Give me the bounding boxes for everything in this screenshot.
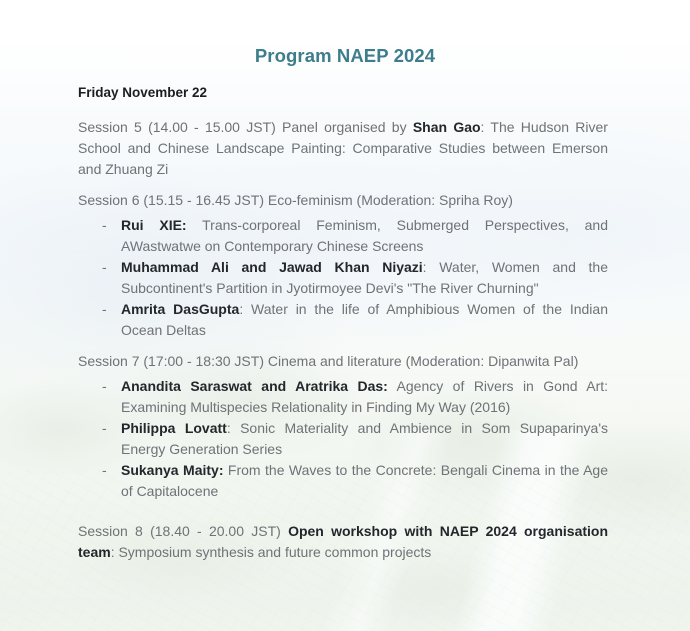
program-page: Program NAEP 2024 Friday November 22 Ses… (0, 0, 690, 631)
session-8-rest: : Symposium synthesis and future common … (111, 544, 432, 560)
talk-list-session-6: -Rui XIE: Trans-corporeal Feminism, Subm… (78, 215, 608, 341)
page-title: Program NAEP 2024 (0, 45, 690, 67)
day-heading: Friday November 22 (78, 83, 608, 103)
program-body: Friday November 22 Session 5 (14.00 - 15… (78, 83, 608, 573)
bullet-dash-icon: - (102, 299, 107, 320)
session-7-lead: Session 7 (17:00 - 18:30 JST) Cinema and… (78, 353, 578, 369)
talk-list-session-7: -Anandita Saraswat and Aratrika Das: Age… (78, 376, 608, 502)
bullet-dash-icon: - (102, 257, 107, 278)
list-item: -Anandita Saraswat and Aratrika Das: Age… (78, 376, 608, 418)
session-paragraph-5: Session 5 (14.00 - 15.00 JST) Panel orga… (78, 117, 608, 180)
talk-speaker: Anandita Saraswat and Aratrika Das: (121, 378, 388, 394)
list-item: -Sukanya Maity: From the Waves to the Co… (78, 460, 608, 502)
bullet-dash-icon: - (102, 376, 107, 397)
session-5-organiser: Shan Gao (413, 119, 481, 135)
document-content: Program NAEP 2024 Friday November 22 Ses… (0, 0, 690, 631)
bullet-dash-icon: - (102, 418, 107, 439)
section-spacer (78, 512, 608, 521)
list-item: -Philippa Lovatt: Sonic Materiality and … (78, 418, 608, 460)
bullet-dash-icon: - (102, 460, 107, 481)
talk-speaker: Rui XIE: (121, 217, 187, 233)
talk-speaker: Philippa Lovatt (121, 420, 227, 436)
list-item: -Muhammad Ali and Jawad Khan Niyazi: Wat… (78, 257, 608, 299)
talk-speaker: Amrita DasGupta (121, 301, 239, 317)
session-paragraph-6: Session 6 (15.15 - 16.45 JST) Eco-femini… (78, 190, 608, 211)
session-paragraph-8: Session 8 (18.40 - 20.00 JST) Open works… (78, 521, 608, 563)
talk-speaker: Sukanya Maity: (121, 462, 223, 478)
talk-speaker: Muhammad Ali and Jawad Khan Niyazi (121, 259, 423, 275)
talk-title: Trans-corporeal Feminism, Submerged Pers… (121, 217, 608, 254)
session-6-lead: Session 6 (15.15 - 16.45 JST) Eco-femini… (78, 192, 513, 208)
list-item: -Rui XIE: Trans-corporeal Feminism, Subm… (78, 215, 608, 257)
session-paragraph-7: Session 7 (17:00 - 18:30 JST) Cinema and… (78, 351, 608, 372)
session-5-lead: Session 5 (14.00 - 15.00 JST) Panel orga… (78, 119, 413, 135)
bullet-dash-icon: - (102, 215, 107, 236)
session-8-lead: Session 8 (18.40 - 20.00 JST) (78, 523, 288, 539)
list-item: -Amrita DasGupta: Water in the life of A… (78, 299, 608, 341)
